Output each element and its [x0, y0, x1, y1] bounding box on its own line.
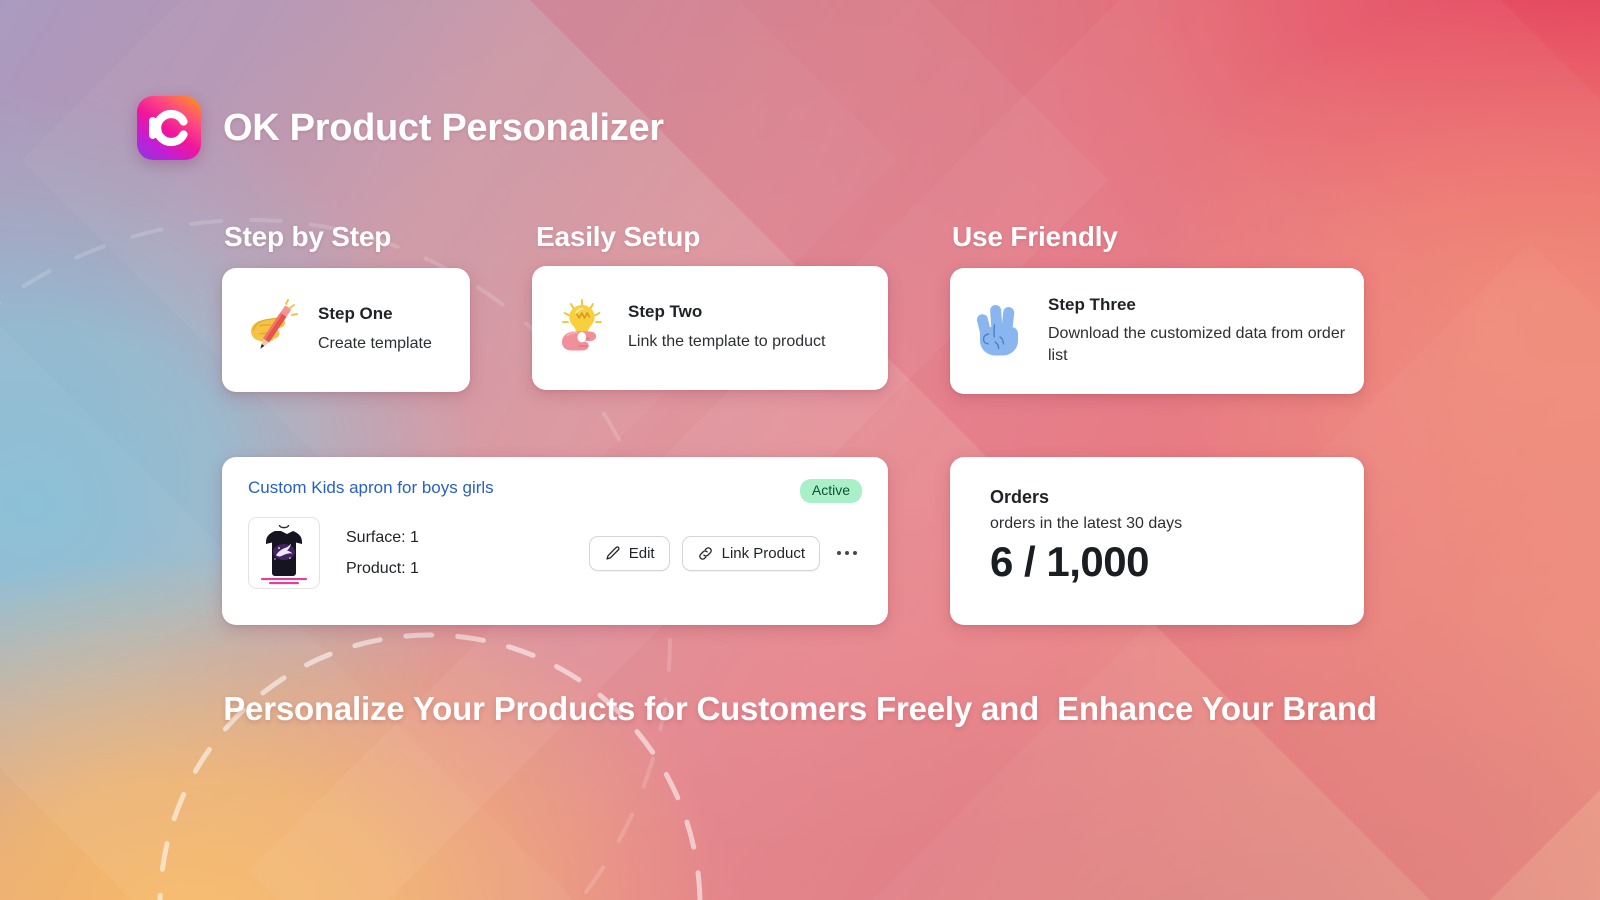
edit-button-label: Edit	[629, 545, 655, 562]
step-card-one: Step One Create template	[222, 268, 470, 392]
more-horizontal-icon[interactable]	[832, 540, 862, 566]
more-dot	[853, 551, 857, 555]
orders-card-subtitle: orders in the latest 30 days	[990, 514, 1364, 533]
chain-link-icon	[697, 545, 714, 562]
section-title-step-by-step: Step by Step	[224, 221, 391, 253]
step-three-title: Step Three	[1048, 296, 1346, 315]
more-dot	[837, 551, 841, 555]
step-three-description: Download the customized data from order …	[1048, 323, 1346, 366]
status-badge: Active	[800, 479, 862, 503]
writing-hand-emoji	[240, 298, 304, 362]
pencil-icon	[604, 545, 621, 562]
template-meta: Surface: 1 Product: 1	[346, 529, 419, 577]
three-fingers-hand-emoji	[968, 298, 1034, 364]
banner-content: OK Product Personalizer Step by Step Eas…	[0, 0, 1600, 900]
template-card-header: Custom Kids apron for boys girls Active	[248, 479, 862, 503]
orders-card: Orders orders in the latest 30 days 6 / …	[950, 457, 1364, 625]
template-thumbnail[interactable]	[248, 517, 320, 589]
product-count: Product: 1	[346, 560, 419, 578]
template-card-body: Surface: 1 Product: 1 Edit	[248, 517, 862, 589]
step-two-description: Link the template to product	[628, 331, 825, 353]
app-header: OK Product Personalizer	[137, 96, 664, 160]
page-title: OK Product Personalizer	[223, 107, 664, 150]
step-two-title: Step Two	[628, 303, 825, 322]
step-two-text: Step Two Link the template to product	[628, 303, 825, 352]
step-one-title: Step One	[318, 305, 432, 324]
tagline: Personalize Your Products for Customers …	[0, 690, 1600, 728]
section-title-easily-setup: Easily Setup	[536, 221, 700, 253]
step-card-three: Step Three Download the customized data …	[950, 268, 1364, 394]
section-title-use-friendly: Use Friendly	[952, 221, 1118, 253]
template-actions: Edit Link Product	[589, 536, 862, 571]
step-one-description: Create template	[318, 333, 432, 355]
link-product-button[interactable]: Link Product	[682, 536, 820, 571]
orders-card-title: Orders	[990, 487, 1364, 508]
more-dot	[845, 551, 849, 555]
link-product-button-label: Link Product	[722, 545, 805, 562]
edit-button[interactable]: Edit	[589, 536, 670, 571]
template-name-link[interactable]: Custom Kids apron for boys girls	[248, 479, 494, 498]
step-three-text: Step Three Download the customized data …	[1048, 296, 1346, 367]
step-card-two: Step Two Link the template to product	[532, 266, 888, 390]
orders-count-value: 6 / 1,000	[990, 540, 1364, 584]
lightbulb-idea-emoji	[550, 296, 614, 360]
step-one-text: Step One Create template	[318, 305, 432, 354]
app-promo-banner: OK Product Personalizer Step by Step Eas…	[0, 0, 1600, 900]
ic-app-logo-icon	[137, 96, 201, 160]
surface-count: Surface: 1	[346, 529, 419, 547]
template-card: Custom Kids apron for boys girls Active	[222, 457, 888, 625]
